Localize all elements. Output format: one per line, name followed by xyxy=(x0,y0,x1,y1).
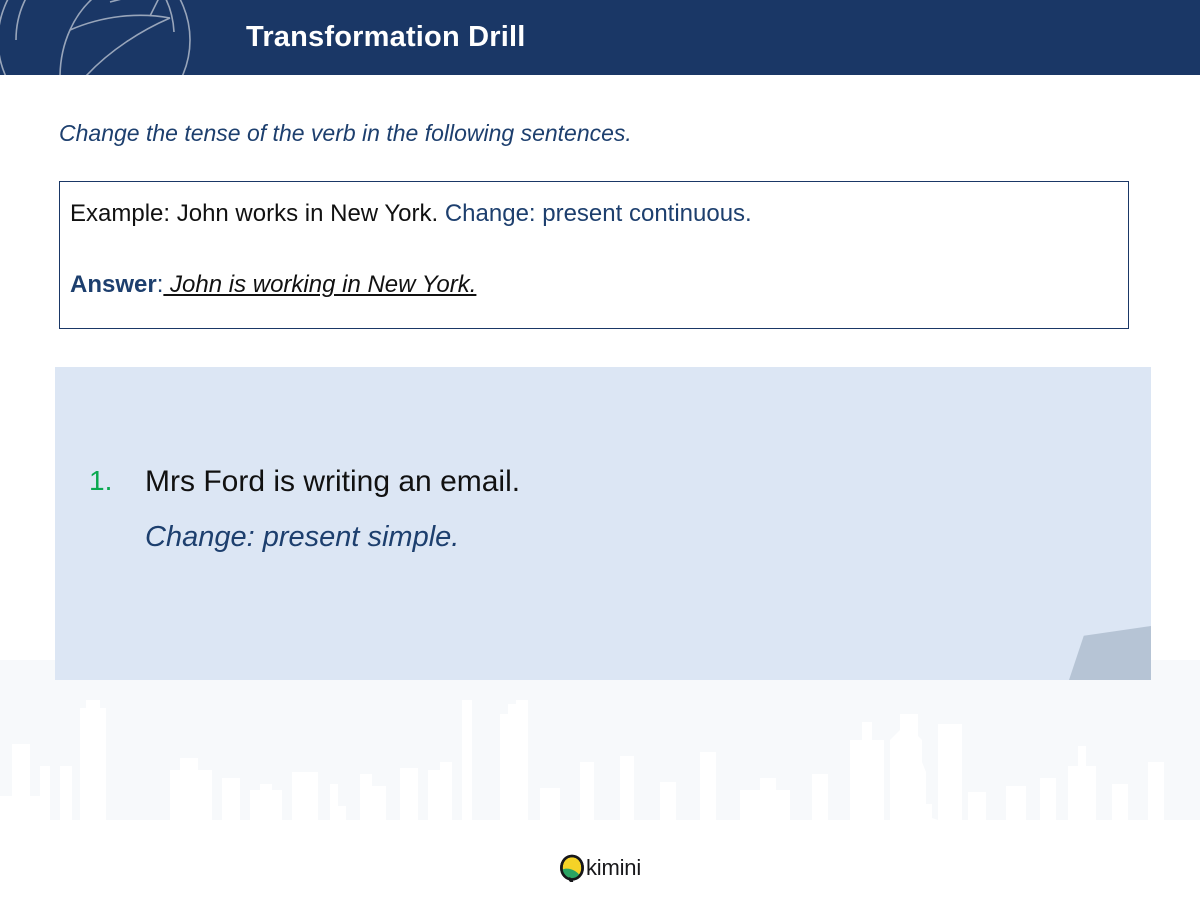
example-change-prompt: Change: present continuous. xyxy=(438,200,752,227)
page-title: Transformation Drill xyxy=(246,0,526,75)
example-sentence: John works in New York. xyxy=(170,200,438,227)
question-sentence: Mrs Ford is writing an email. xyxy=(145,464,520,500)
slide-canvas: Transformation Drill Change the tense of… xyxy=(0,0,1200,900)
example-line: Example: John works in New York. Change:… xyxy=(70,200,752,228)
brand-name: kimini xyxy=(586,857,641,879)
example-box: Example: John works in New York. Change:… xyxy=(59,181,1129,329)
question-change-prompt: Change: present simple. xyxy=(145,520,520,555)
question-panel: 1. Mrs Ford is writing an email. Change:… xyxy=(55,367,1151,680)
slide-footer: kimini xyxy=(0,848,1200,888)
example-label: Example: xyxy=(70,200,170,227)
kimini-egg-logo-icon xyxy=(559,854,585,882)
question-body: Mrs Ford is writing an email. Change: pr… xyxy=(145,464,520,555)
instruction-text: Change the tense of the verb in the foll… xyxy=(59,120,632,147)
example-answer-line: Answer: John is working in New York. xyxy=(70,271,476,299)
answer-text: John is working in New York. xyxy=(163,271,476,298)
slide-header: Transformation Drill xyxy=(0,0,1200,75)
kimini-g-monogram-icon xyxy=(0,0,202,75)
question-number: 1. xyxy=(89,464,145,499)
question-row: 1. Mrs Ford is writing an email. Change:… xyxy=(89,464,520,555)
answer-label: Answer xyxy=(70,271,157,298)
brand-logo: kimini xyxy=(559,854,641,882)
